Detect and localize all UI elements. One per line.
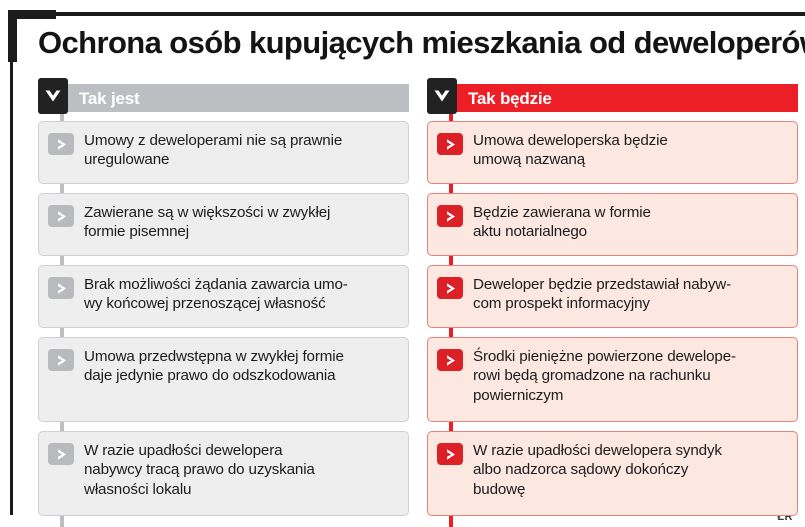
list-item-text: Umowa deweloperska będzie umową nazwaną [473,131,668,170]
chevron-right-icon [437,277,463,299]
list-item: Będzie zawierana w formie aktu notarialn… [427,193,798,256]
list-item-text: Środki pieniężne powierzone dewelope- ro… [473,347,736,405]
list-item-text: Brak możliwości żądania zawarcia umo- wy… [84,275,348,314]
list-item-text: Umowy z deweloperami nie są prawnie ureg… [84,131,342,170]
list-item-text: W razie upadłości dewelopera syndyk albo… [473,441,722,499]
chevron-right-icon [437,205,463,227]
chevron-right-icon [48,133,74,155]
chevron-right-icon [48,443,74,465]
column-current-state: Tak jest Umowy z deweloperami nie są pra… [38,84,409,525]
top-rule [53,12,805,16]
list-item-text: Deweloper będzie przedstawiał nabyw- com… [473,275,731,314]
list-item: W razie upadłości dewelopera nabywcy tra… [38,431,409,516]
column-future-state: Tak będzie Umowa deweloperska będzie umo… [427,84,798,525]
list-item: Deweloper będzie przedstawiał nabyw- com… [427,265,798,328]
chevron-right-icon [48,349,74,371]
comparison-columns: Tak jest Umowy z deweloperami nie są pra… [38,84,798,525]
list-item: Umowy z deweloperami nie są prawnie ureg… [38,121,409,184]
list-item-text: Umowa przedwstępna w zwykłej formie daje… [84,347,344,386]
page-title: Ochrona osób kupujących mieszkania od de… [38,26,798,60]
list-item: Umowa deweloperska będzie umową nazwaną [427,121,798,184]
chevron-down-icon [38,78,68,114]
chevron-right-icon [437,349,463,371]
list-item: Zawierane są w większości w zwykłej form… [38,193,409,256]
chevron-right-icon [437,133,463,155]
column-header-future: Tak będzie [427,84,798,112]
infographic-root: Ochrona osób kupujących mieszkania od de… [0,0,805,527]
list-item: W razie upadłości dewelopera syndyk albo… [427,431,798,516]
list-item-text: Zawierane są w większości w zwykłej form… [84,203,330,242]
left-rule [10,60,13,515]
list-item: Brak możliwości żądania zawarcia umo- wy… [38,265,409,328]
column-header-label: Tak będzie [468,90,552,107]
corner-bracket-vertical [8,10,17,62]
chevron-right-icon [437,443,463,465]
column-header-current: Tak jest [38,84,409,112]
column-header-label: Tak jest [79,90,139,107]
list-item-text: Będzie zawierana w formie aktu notarialn… [473,203,651,242]
list-item: Środki pieniężne powierzone dewelope- ro… [427,337,798,422]
list-item: Umowa przedwstępna w zwykłej formie daje… [38,337,409,422]
list-item-text: W razie upadłości dewelopera nabywcy tra… [84,441,315,499]
chevron-right-icon [48,205,74,227]
chevron-down-icon [427,78,457,114]
chevron-right-icon [48,277,74,299]
